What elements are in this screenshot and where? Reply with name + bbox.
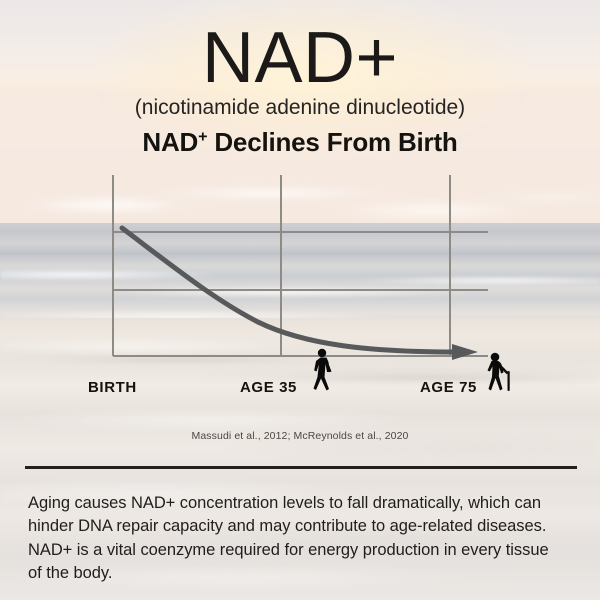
nad-infographic-poster: NAD+ (nicotinamide adenine dinucleotide)…: [0, 0, 600, 600]
walking-man-silhouette-icon: [314, 349, 332, 391]
axis-label-age-75: AGE 75: [420, 379, 477, 396]
body-paragraph: Aging causes NAD+ concentration levels t…: [28, 492, 564, 586]
chart-citation: Massudi et al., 2012; McReynolds et al.,…: [0, 430, 600, 442]
section-divider: [25, 466, 577, 469]
axis-label-birth: BIRTH: [88, 379, 137, 396]
curve-arrowhead-icon: [452, 344, 478, 360]
elderly-man-with-cane-silhouette-icon: [488, 353, 510, 391]
axis-label-age-35: AGE 35: [240, 379, 297, 396]
